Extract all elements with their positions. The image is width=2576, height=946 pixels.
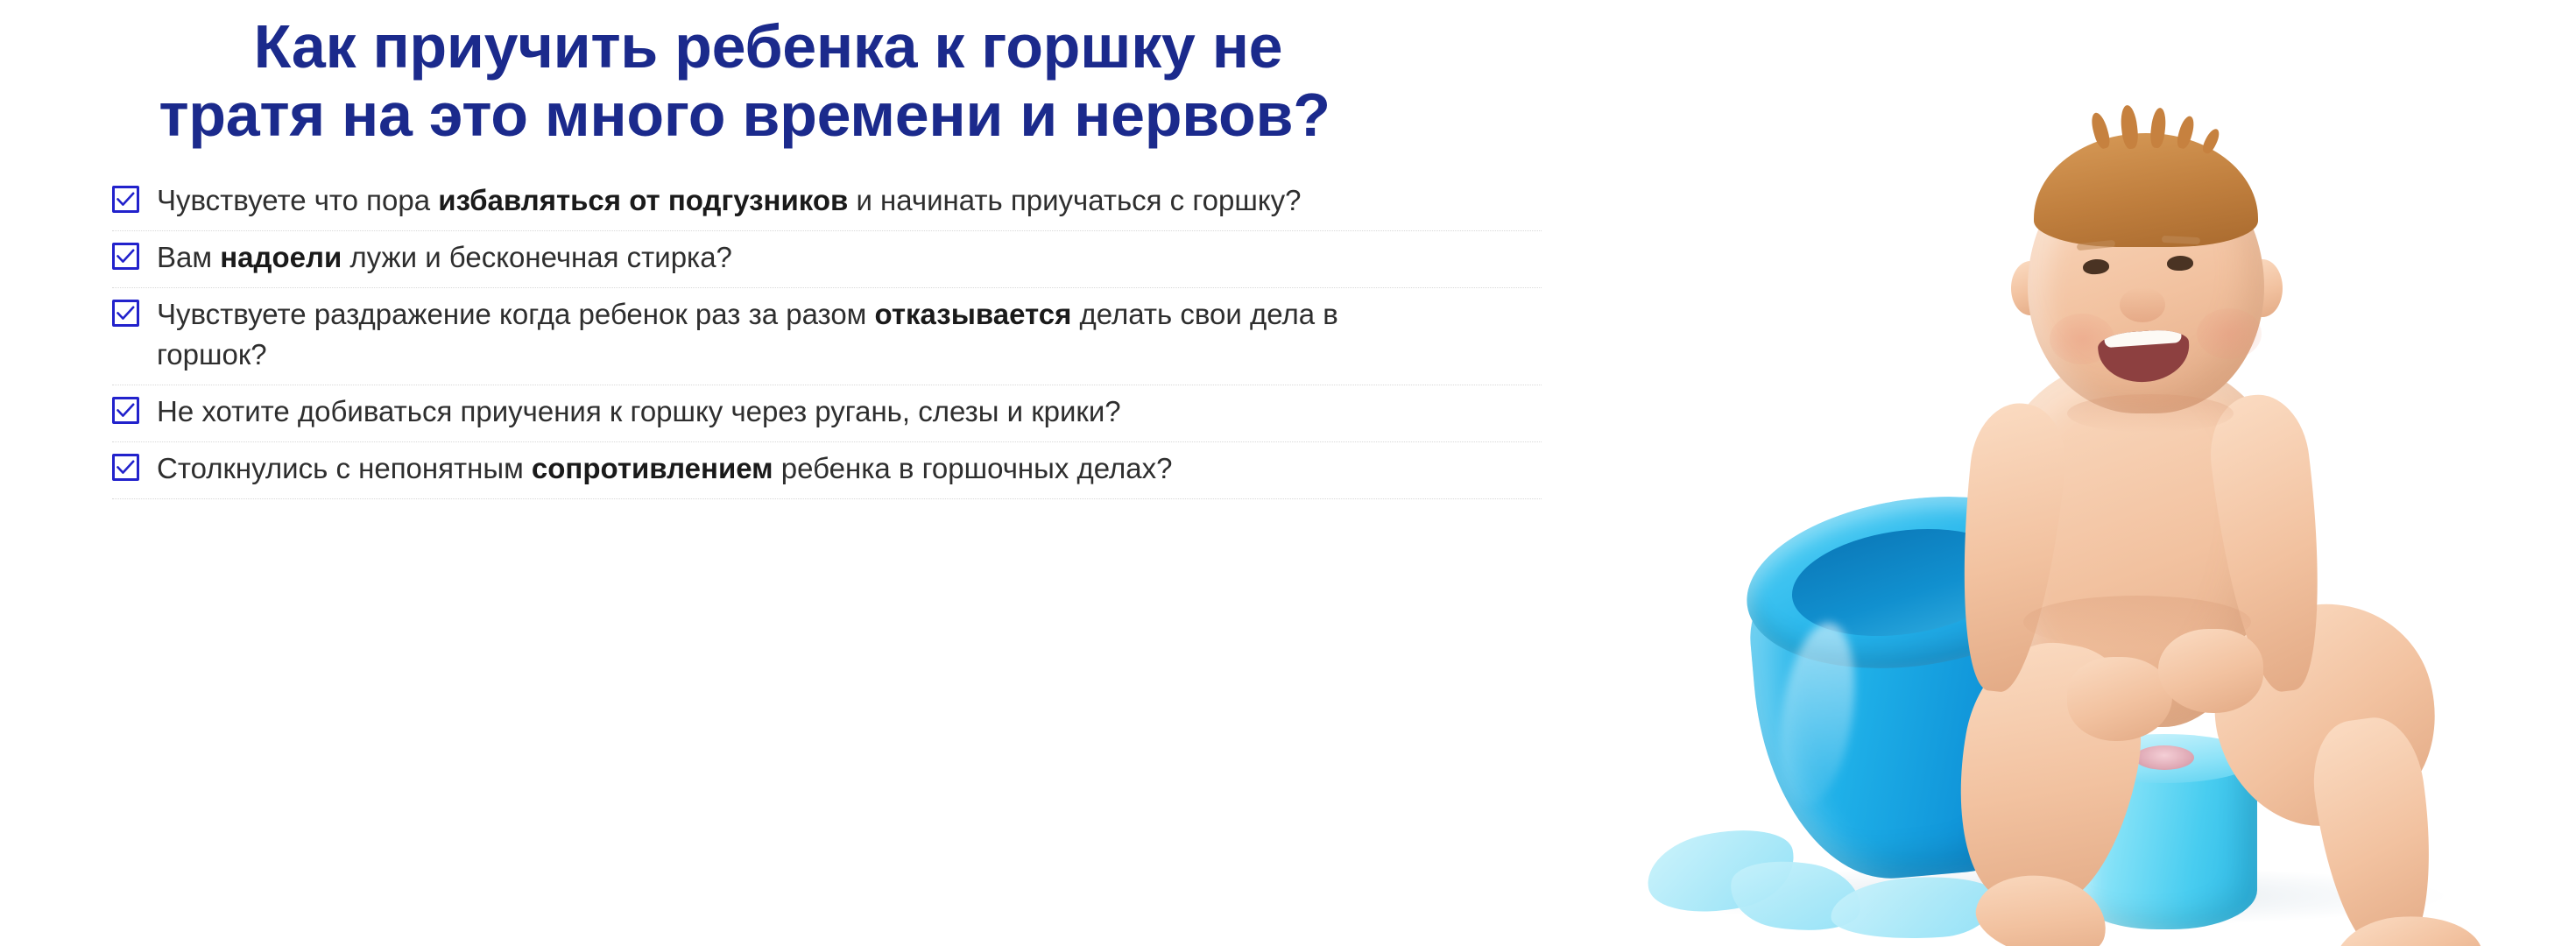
list-item[interactable]: Вам надоели лужи и бесконечная стирка?: [112, 231, 1549, 288]
hair-tuft-icon: [2200, 127, 2222, 156]
baby-right-cheek: [2197, 308, 2262, 359]
list-item[interactable]: Чувствуете раздражение когда ребенок раз…: [112, 288, 1549, 386]
hero-left-column: Как приучить ребенка к горшку не тратя н…: [0, 0, 1559, 946]
page-title: Как приучить ребенка к горшку не тратя н…: [0, 0, 1489, 150]
list-item-label: Столкнулись с непонятным сопротивлением …: [157, 448, 1173, 490]
headline-line-2: тратя на это много времени и нервов?: [0, 81, 1489, 149]
list-item[interactable]: Чувствуете что пора избавляться от подгу…: [112, 174, 1549, 231]
baby-hair: [2034, 133, 2258, 247]
photo-alt-text: Улыбающийся малыш сидит на голубом горшк…: [1542, 0, 1542, 1]
baby-left-hand: [2067, 657, 2172, 741]
list-item-label: Вам надоели лужи и бесконечная стирка?: [157, 237, 732, 279]
text-bold: отказывается: [875, 298, 1072, 330]
list-item[interactable]: Столкнулись с непонятным сопротивлением …: [112, 442, 1549, 499]
text-bold: избавляться от подгузников: [438, 184, 848, 216]
text-plain: ребенка в горшочных делах?: [773, 452, 1173, 484]
list-item[interactable]: Не хотите добиваться приучения к горшку …: [112, 385, 1549, 442]
list-item-label: Чувствуете раздражение когда ребенок раз…: [157, 294, 1401, 377]
hero-photo: Улыбающийся малыш сидит на голубом горшк…: [1542, 0, 2576, 946]
checked-checkbox-icon[interactable]: [112, 243, 139, 270]
text-plain: Чувствуете раздражение когда ребенок раз…: [157, 298, 875, 330]
text-plain: Не хотите добиваться приучения к горшку …: [157, 395, 1121, 427]
list-item-label: Не хотите добиваться приучения к горшку …: [157, 392, 1121, 433]
headline-line-1: Как приучить ребенка к горшку не: [0, 12, 1489, 81]
toilet-paper-core-hole: [2135, 745, 2194, 770]
checked-checkbox-icon[interactable]: [112, 397, 139, 424]
text-plain: Столкнулись с непонятным: [157, 452, 532, 484]
text-plain: и начинать приучаться с горшку?: [848, 184, 1301, 216]
checked-checkbox-icon[interactable]: [112, 186, 139, 213]
benefits-checklist: Чувствуете что пора избавляться от подгу…: [112, 174, 1549, 499]
list-item-label: Чувствуете что пора избавляться от подгу…: [157, 180, 1302, 222]
hero-section: Как приучить ребенка к горшку не тратя н…: [0, 0, 2576, 946]
checked-checkbox-icon[interactable]: [112, 300, 139, 327]
text-bold: надоели: [220, 241, 342, 273]
text-plain: лужи и бесконечная стирка?: [342, 241, 732, 273]
baby-nose: [2120, 287, 2165, 322]
checked-checkbox-icon[interactable]: [112, 454, 139, 481]
text-bold: сопротивлением: [532, 452, 773, 484]
text-plain: Вам: [157, 241, 220, 273]
baby-right-hand: [2158, 629, 2263, 713]
text-plain: Чувствуете что пора: [157, 184, 438, 216]
baby-on-potty-illustration: Улыбающийся малыш сидит на голубом горшк…: [1542, 0, 2576, 946]
baby-chin-fold: [2067, 394, 2234, 433]
